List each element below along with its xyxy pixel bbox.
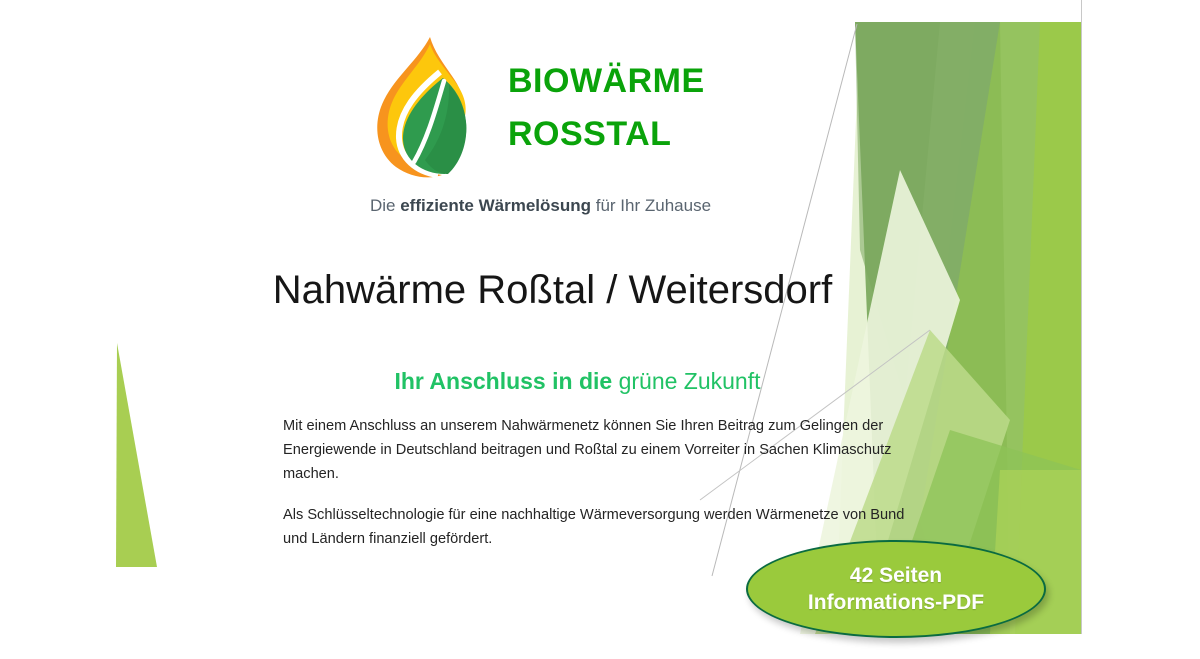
tagline-part-3: für Ihr Zuhause: [591, 196, 711, 215]
subtitle-part-2: grüne Zukunft: [612, 368, 760, 394]
pdf-pages-badge[interactable]: 42 Seiten Informations-PDF: [746, 540, 1046, 638]
brand-logo-block: BIOWÄRME ROSSTAL: [370, 28, 750, 188]
brand-tagline: Die effiziente Wärmelösung für Ihr Zuhau…: [0, 196, 1081, 216]
subtitle-part-1: Ihr Anschluss in die: [394, 368, 612, 394]
page-title: Nahwärme Roßtal / Weitersdorf: [0, 268, 1105, 313]
tagline-part-1: Die: [370, 196, 400, 215]
decor-bright-sliver: [1015, 22, 1081, 634]
badge-line-2: Informations-PDF: [808, 589, 984, 616]
brand-word-line-1: BIOWÄRME: [508, 55, 705, 108]
brand-wordmark: BIOWÄRME ROSSTAL: [508, 55, 705, 160]
brand-word-line-2: ROSSTAL: [508, 108, 705, 161]
tagline-part-2: effiziente Wärmelösung: [400, 196, 591, 215]
slide-canvas: BIOWÄRME ROSSTAL Die effiziente Wärmelös…: [0, 0, 1200, 659]
flame-leaf-logo-icon: [370, 34, 488, 182]
badge-line-1: 42 Seiten: [850, 562, 942, 589]
body-paragraph-1: Mit einem Anschluss an unserem Nahwärmen…: [283, 414, 928, 486]
page-subtitle: Ihr Anschluss in die grüne Zukunft: [0, 368, 1155, 395]
